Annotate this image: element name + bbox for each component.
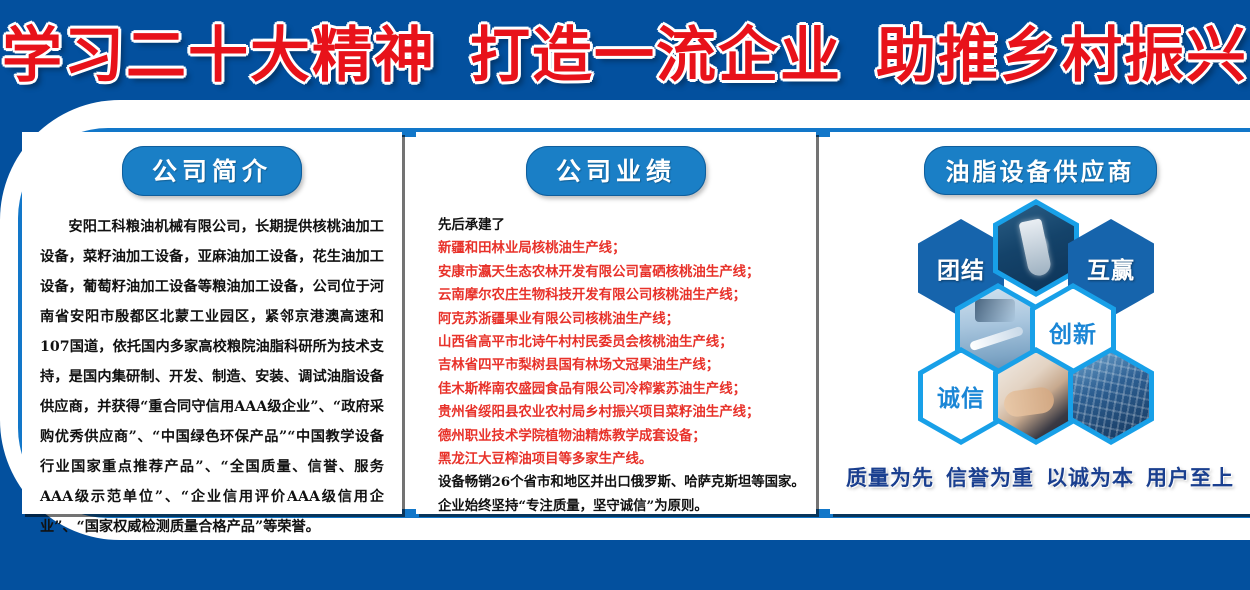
panel-company-achievements: 公司业绩 先后承建了新疆和田林业局核桃油生产线；安康市瀛天生态农林开发有限公司富… [416, 132, 816, 514]
poster-root: 学习二十大精神打造一流企业助推乡村振兴 公司简介 安阳工科粮油机械有限公司，长期… [0, 0, 1250, 590]
hex-inner [1073, 353, 1149, 440]
achievement-list: 先后承建了新疆和田林业局核桃油生产线；安康市瀛天生态农林开发有限公司富硒核桃油生… [438, 214, 816, 518]
panel-left-title: 公司简介 [122, 146, 302, 196]
page-title-part2: 打造一流企业 [470, 21, 842, 91]
hex-label: 团结 [937, 251, 985, 285]
page-title: 学习二十大精神打造一流企业助推乡村振兴 [2, 7, 1248, 94]
office-tower-image [1073, 353, 1149, 440]
panel-company-intro: 公司简介 安阳工科粮油机械有限公司，长期提供核桃油加工设备，菜籽油加工设备，亚麻… [22, 132, 402, 514]
achievement-line: 企业始终坚持“专注质量，坚守诚信”为原则。 [438, 495, 816, 518]
achievement-line: 安康市瀛天生态农林开发有限公司富硒核桃油生产线； [438, 261, 816, 284]
hex-label: 诚信 [937, 379, 985, 413]
achievement-line: 阿克苏浙疆果业有限公司核桃油生产线； [438, 308, 816, 331]
page-title-part1: 学习二十大精神 [2, 21, 436, 91]
hex-inner: 诚信 [923, 353, 999, 440]
slogan-phrase: 用户至上 [1146, 466, 1234, 490]
achievement-line: 设备畅销26个省市和地区并出口俄罗斯、哈萨克斯坦等国家。 [438, 471, 816, 494]
panel-supplier-values: 油脂设备供应商 团结互赢创新诚信 质量为先信誉为重以诚为本用户至上 [830, 132, 1250, 514]
slogan-phrase: 信誉为重 [946, 466, 1034, 490]
hex-label: 互赢 [1087, 251, 1135, 285]
aircraft-carrier-image [998, 205, 1074, 292]
handshake-image [998, 353, 1074, 440]
panels-container: 公司简介 安阳工科粮油机械有限公司，长期提供核桃油加工设备，菜籽油加工设备，亚麻… [22, 132, 1250, 514]
achievement-line: 贵州省绥阳县农业农村局乡村振兴项目菜籽油生产线； [438, 401, 816, 424]
achievement-line: 新疆和田林业局核桃油生产线； [438, 237, 816, 260]
achievement-line: 佳木斯桦南农盛园食品有限公司冷榨紫苏油生产线； [438, 378, 816, 401]
company-intro-text: 安阳工科粮油机械有限公司，长期提供核桃油加工设备，菜籽油加工设备，亚麻油加工设备… [40, 212, 384, 542]
hex-label: 创新 [1049, 315, 1097, 349]
achievement-line: 先后承建了 [438, 214, 816, 237]
slogan-phrase: 质量为先 [846, 466, 934, 490]
slogan-phrase: 以诚为本 [1046, 466, 1134, 490]
panel-middle-title: 公司业绩 [526, 146, 706, 196]
hex-carrier [993, 199, 1079, 297]
panel-right-title: 油脂设备供应商 [924, 146, 1157, 195]
achievement-line: 德州职业技术学院植物油精炼教学成套设备； [438, 425, 816, 448]
achievement-line: 黑龙江大豆榨油项目等多家生产线。 [438, 448, 816, 471]
hex-inner [998, 353, 1074, 440]
achievement-line: 吉林省四平市梨树县国有林场文冠果油生产线； [438, 354, 816, 377]
hex-inner [998, 205, 1074, 292]
achievement-line: 山西省高平市北诗午村村民委员会核桃油生产线； [438, 331, 816, 354]
header-band: 学习二十大精神打造一流企业助推乡村振兴 [0, 0, 1250, 100]
page-title-part3: 助推乡村振兴 [876, 21, 1248, 91]
company-slogan: 质量为先信誉为重以诚为本用户至上 [830, 462, 1250, 492]
hexagon-cluster: 团结互赢创新诚信 [830, 205, 1250, 465]
achievement-line: 云南摩尔农庄生物科技开发有限公司核桃油生产线； [438, 284, 816, 307]
